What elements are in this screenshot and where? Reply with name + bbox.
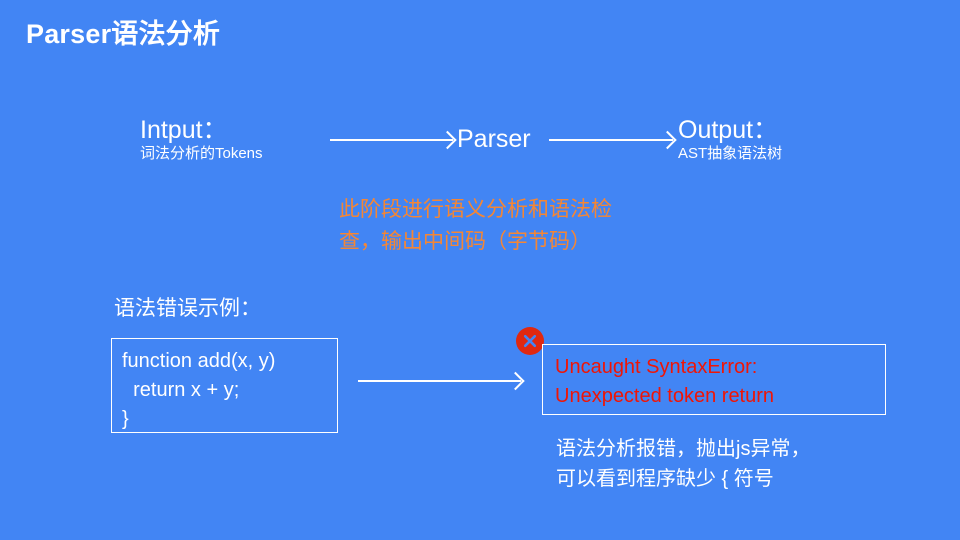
- pipeline-parser-label: Parser: [457, 126, 531, 152]
- code-line: }: [122, 405, 337, 434]
- stage-note-line-2: 查，输出中间码（字节码）: [339, 226, 679, 258]
- pipeline-stage-parser: Parser: [457, 126, 531, 152]
- error-message-line: Unexpected token return: [555, 382, 885, 411]
- slide-canvas: Parser语法分析 Intput： 词法分析的Tokens Parser Ou…: [0, 0, 960, 540]
- error-message-box: Uncaught SyntaxError: Unexpected token r…: [542, 344, 886, 415]
- arrow-right-icon-input-to-parser: [330, 139, 453, 141]
- arrow-right-icon-code-to-error: [358, 380, 521, 382]
- pipeline-stage-input: Intput： 词法分析的Tokens: [140, 117, 263, 164]
- pipeline-input-label: Intput：: [140, 117, 263, 143]
- pipeline-stage-output: Output： AST抽象语法树: [678, 117, 782, 164]
- page-title: Parser语法分析: [26, 18, 220, 52]
- error-caption: 语法分析报错，抛出js异常， 可以看到程序缺少 { 符号: [556, 434, 886, 494]
- stage-note: 此阶段进行语义分析和语法检 查，输出中间码（字节码）: [339, 194, 679, 257]
- arrow-right-icon-parser-to-output: [549, 139, 673, 141]
- error-caption-line-1: 语法分析报错，抛出js异常，: [556, 434, 886, 464]
- error-example-heading: 语法错误示例：: [114, 292, 261, 322]
- error-caption-line-2: 可以看到程序缺少 { 符号: [556, 464, 886, 494]
- pipeline-output-label: Output：: [678, 117, 782, 143]
- code-line: function add(x, y): [122, 347, 337, 376]
- stage-note-line-1: 此阶段进行语义分析和语法检: [339, 194, 679, 226]
- code-snippet-box: function add(x, y) return x + y; }: [111, 338, 338, 433]
- pipeline-output-sublabel: AST抽象语法树: [678, 145, 782, 164]
- error-circle-x-icon: [516, 327, 544, 355]
- error-message-line: Uncaught SyntaxError:: [555, 353, 885, 382]
- code-line: return x + y;: [122, 376, 337, 405]
- pipeline-input-sublabel: 词法分析的Tokens: [140, 145, 263, 164]
